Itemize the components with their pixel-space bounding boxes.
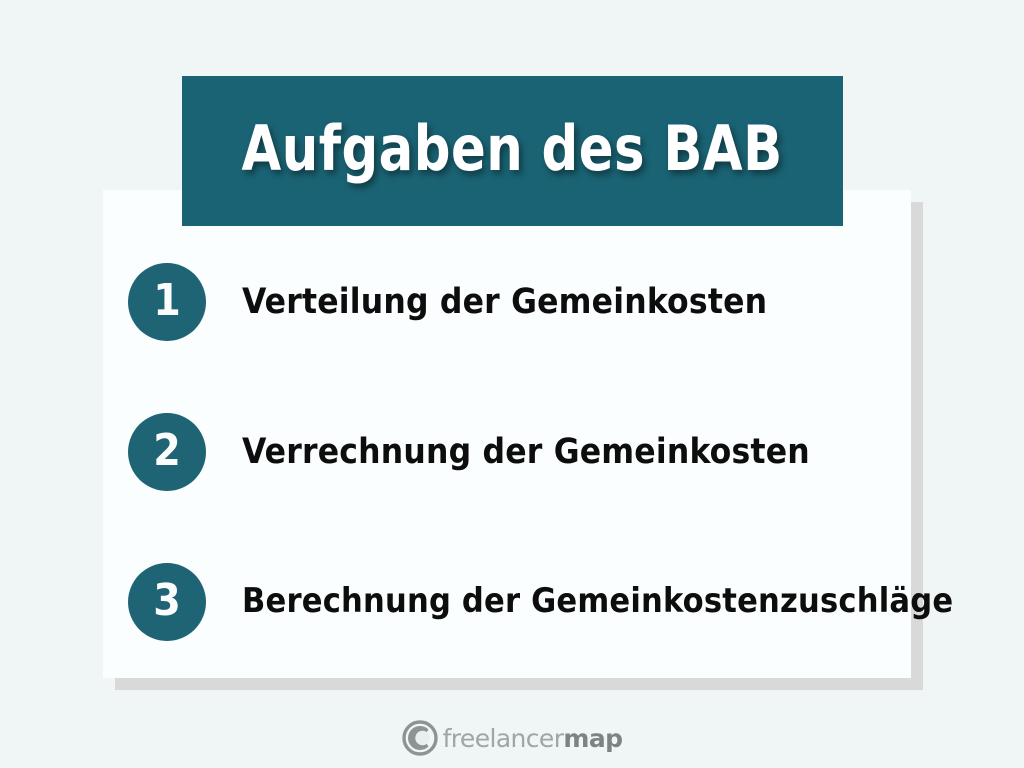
- list-item: 1 Verteilung der Gemeinkosten: [103, 262, 911, 342]
- logo-wordmark: freelancermap: [443, 726, 623, 751]
- logo-word-map: map: [563, 724, 622, 753]
- freelancermap-swirl-icon: [402, 720, 438, 756]
- list-item: 3 Berechnung der Gemeinkostenzuschläge: [103, 562, 911, 642]
- step-number-badge: 3: [128, 563, 206, 641]
- logo-word-freelancer: freelancer: [443, 724, 564, 753]
- list-item-label: Berechnung der Gemeinkostenzuschläge: [242, 584, 953, 620]
- list-item-label: Verteilung der Gemeinkosten: [242, 284, 767, 321]
- infographic-slide: Aufgaben des BAB 1 Verteilung der Gemein…: [0, 0, 1024, 768]
- list-item: 2 Verrechnung der Gemeinkosten: [103, 412, 911, 492]
- step-number-badge: 1: [128, 263, 206, 341]
- task-list: 1 Verteilung der Gemeinkosten 2 Verrechn…: [103, 190, 911, 678]
- footer: freelancermap: [0, 708, 1024, 768]
- list-item-label: Verrechnung der Gemeinkosten: [242, 434, 810, 471]
- page-title: Aufgaben des BAB: [242, 118, 783, 184]
- step-number-badge: 2: [128, 413, 206, 491]
- freelancermap-logo: freelancermap: [402, 720, 623, 756]
